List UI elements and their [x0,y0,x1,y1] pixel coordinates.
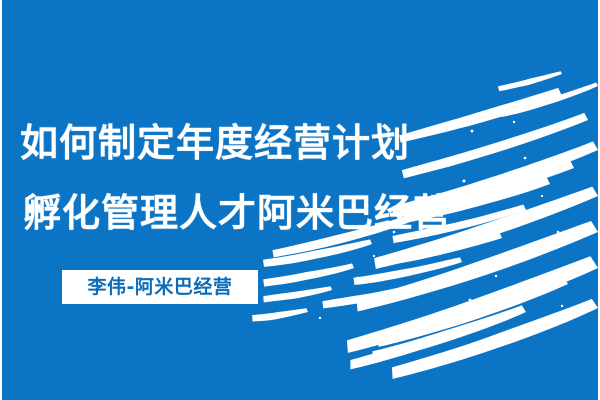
title-line-1: 如何制定年度经营计划 [20,108,540,178]
poster-title: 如何制定年度经营计划 孵化管理人才阿米巴经营 [20,108,540,248]
speaker-badge-label: 李伟-阿米巴经营 [88,278,233,297]
title-line-2: 孵化管理人才阿米巴经营 [20,178,540,248]
poster-canvas: 如何制定年度经营计划 孵化管理人才阿米巴经营 李伟-阿米巴经营 [0,0,600,400]
speaker-badge: 李伟-阿米巴经营 [62,270,258,304]
